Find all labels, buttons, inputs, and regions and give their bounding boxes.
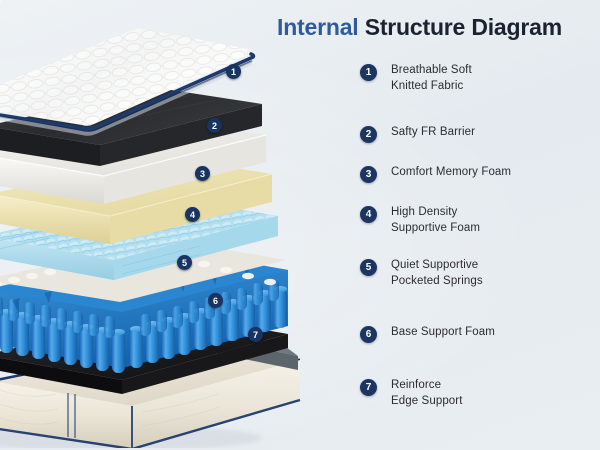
callout-badge-quiet-supportive-pocketed-springs[interactable]: 5 [177, 255, 192, 270]
callout-badge-high-density-supportive-foam[interactable]: 4 [185, 207, 200, 222]
legend-item-6[interactable]: 6Base Support Foam [360, 325, 495, 343]
page-title-word-structure-diagram: Structure Diagram [365, 14, 562, 40]
callout-badge-safty-fr-barrier[interactable]: 2 [207, 118, 222, 133]
legend-badge-5: 5 [360, 259, 377, 276]
legend-item-5[interactable]: 5Quiet Supportive Pocketed Springs [360, 258, 483, 289]
legend-label-6: Base Support Foam [391, 325, 495, 341]
legend-label-3: Comfort Memory Foam [391, 165, 511, 181]
legend-label-2: Safty FR Barrier [391, 125, 475, 141]
callout-badge-breathable-soft-knitted-fabric[interactable]: 1 [226, 64, 241, 79]
legend-badge-6: 6 [360, 326, 377, 343]
callout-badge-comfort-memory-foam[interactable]: 3 [195, 166, 210, 181]
legend-item-3[interactable]: 3Comfort Memory Foam [360, 165, 511, 183]
legend-label-7: Reinforce Edge Support [391, 378, 463, 409]
page-title-word-internal: Internal [277, 14, 358, 40]
callout-badge-reinforce-edge-support[interactable]: 7 [248, 327, 263, 342]
mattress-exploded-illustration [0, 8, 312, 448]
legend-label-4: High Density Supportive Foam [391, 205, 480, 236]
legend-label-1: Breathable Soft Knitted Fabric [391, 63, 472, 94]
legend-item-1[interactable]: 1Breathable Soft Knitted Fabric [360, 63, 472, 94]
legend-badge-4: 4 [360, 206, 377, 223]
legend-badge-3: 3 [360, 166, 377, 183]
legend-label-5: Quiet Supportive Pocketed Springs [391, 258, 483, 289]
legend-item-2[interactable]: 2Safty FR Barrier [360, 125, 475, 143]
callout-badge-base-support-foam[interactable]: 6 [208, 293, 223, 308]
legend-badge-7: 7 [360, 379, 377, 396]
legend-badge-2: 2 [360, 126, 377, 143]
legend-badge-1: 1 [360, 64, 377, 81]
legend-item-4[interactable]: 4High Density Supportive Foam [360, 205, 480, 236]
page-title: Internal Structure Diagram [277, 14, 562, 41]
legend-item-7[interactable]: 7Reinforce Edge Support [360, 378, 463, 409]
